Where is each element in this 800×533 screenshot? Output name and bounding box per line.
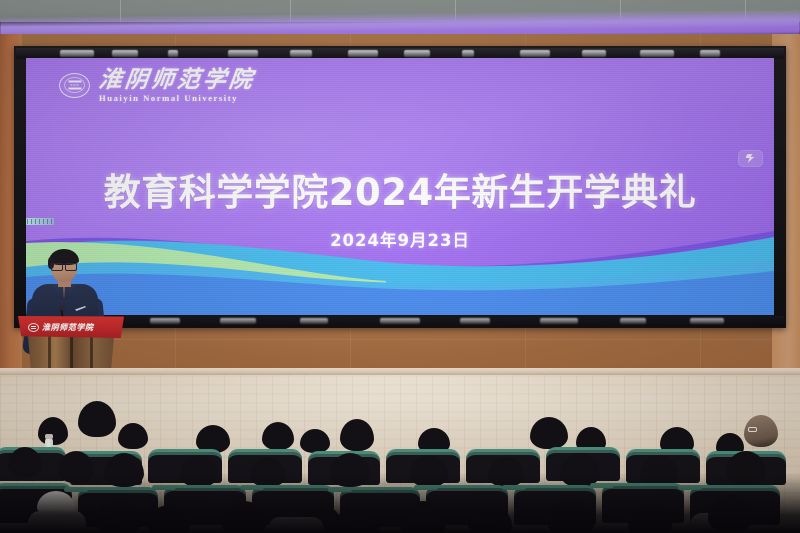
university-seal-icon [59,73,90,98]
audience [0,395,800,533]
audience-member [262,422,294,450]
water-bottle-cap [45,434,53,439]
lightning-bolt-icon [744,153,757,164]
audience-member [300,429,330,453]
podium-banner-text: 淮阴师范学院 [42,322,94,333]
slide-overlay-widget[interactable] [738,150,763,167]
auditorium-photo: 淮阴师范学院 Huaiyin Normal University 教育科学学院2… [0,0,800,533]
podium-banner: 淮阴师范学院 [18,316,124,338]
audience-member [530,417,568,449]
audience-member [78,401,116,437]
audience-member [118,423,148,449]
presentation-slide: 淮阴师范学院 Huaiyin Normal University 教育科学学院2… [26,58,774,315]
slide-university-logo: 淮阴师范学院 Huaiyin Normal University [59,68,255,103]
audience-member [340,419,374,451]
slide-title: 教育科学学院2024年新生开学典礼 [26,162,774,216]
audience-member [38,417,68,445]
university-name-cn: 淮阴师范学院 [98,68,257,91]
university-seal-icon [28,323,39,332]
screen-edge-label [26,218,54,225]
slide-wave-decoration [26,223,774,315]
wall-baseboard [0,368,800,375]
university-name-en: Huaiyin Normal University [99,94,255,103]
eyeglasses-icon [51,263,77,270]
eyeglasses-icon [748,427,757,432]
